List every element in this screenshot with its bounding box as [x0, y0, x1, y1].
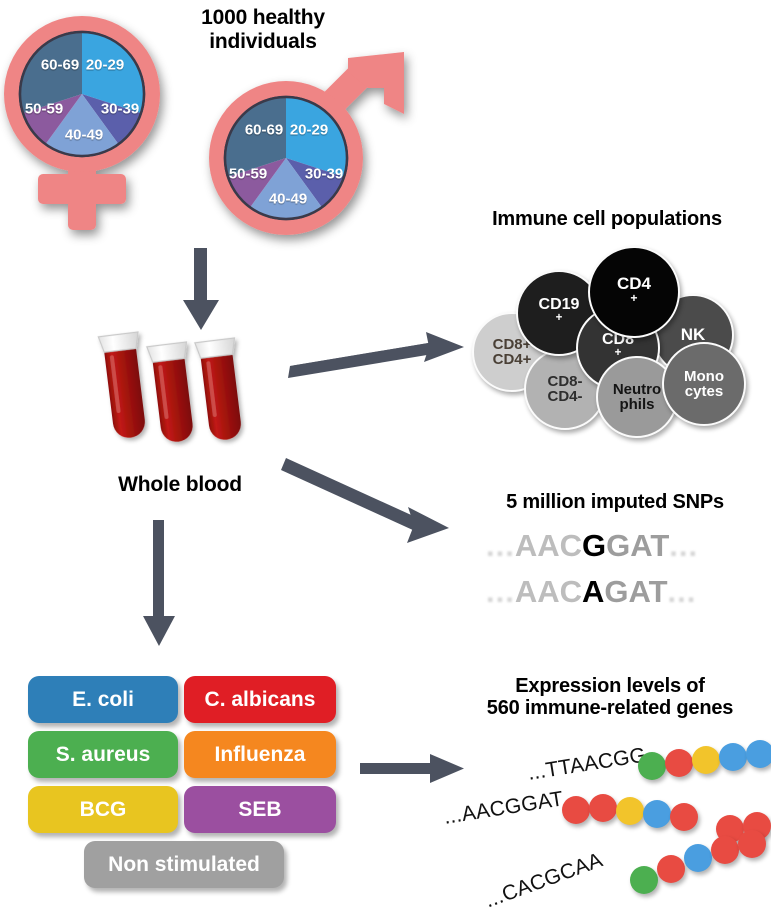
blood-tube: [195, 338, 247, 442]
expression-strand-3-sequence: ...CACGCAA: [482, 849, 606, 913]
blood-tubes: [95, 330, 270, 455]
arrow-blood-to-stimulation: [138, 520, 180, 648]
stimulation-pill-s-aureus-label: S. aureus: [56, 743, 151, 767]
expression-title-line2: 560 immune-related genes: [452, 697, 768, 719]
expression-bead: [616, 797, 644, 825]
stimulation-pill-e-coli-label: E. coli: [72, 688, 134, 712]
stimulation-pill-seb-label: SEB: [238, 798, 281, 822]
stimulation-pill-non-stimulated-label: Non stimulated: [108, 853, 260, 877]
snp-row1-right: GAT: [606, 528, 669, 563]
immune-cell-cd8p-cd4p-line2: CD4+: [493, 352, 532, 367]
expression-bead: [711, 836, 739, 864]
immune-cell-cd8n-cd4n-line1: CD8-: [547, 374, 582, 389]
stimulation-panel: E. coli C. albicans S. aureus Influenza …: [28, 676, 358, 896]
expression-bead: [657, 855, 685, 883]
stimulation-pill-c-albicans[interactable]: C. albicans: [184, 676, 336, 723]
blood-tube: [147, 342, 199, 444]
snp-row1-suffix-dots: ...: [669, 528, 698, 563]
expression-title: Expression levels of 560 immune-related …: [452, 675, 768, 720]
expression-title-line1: Expression levels of: [452, 675, 768, 697]
expression-strand-2: ...AACGGAT: [458, 784, 771, 844]
stimulation-pill-bcg-label: BCG: [80, 798, 127, 822]
snp-sequence-row-1: ...AACGGAT...: [486, 528, 698, 564]
figure-canvas: 1000 healthy individuals: [0, 0, 771, 922]
expression-bead: [684, 844, 712, 872]
expression-bead: [562, 796, 590, 824]
immune-cell-populations-title: Immune cell populations: [452, 208, 762, 230]
expression-strand-3: ...CACGCAA: [458, 836, 771, 906]
snp-sequence-row-2: ...AACAGAT...: [486, 574, 696, 610]
immune-cell-cd8n-cd4n-line2: CD4-: [547, 389, 582, 404]
snp-row2-variant: A: [582, 574, 604, 609]
whole-blood-label: Whole blood: [80, 473, 280, 497]
expression-bead: [589, 794, 617, 822]
expression-bead: [670, 803, 698, 831]
snp-row1-left: AAC: [515, 528, 582, 563]
stimulation-pill-c-albicans-label: C. albicans: [205, 688, 316, 712]
expression-bead: [638, 752, 666, 780]
snp-row1-variant: G: [582, 528, 606, 563]
immune-cell-cd4-label: CD4+: [617, 275, 651, 310]
stimulation-pill-seb[interactable]: SEB: [184, 786, 336, 833]
snp-row2-prefix-dots: ...: [486, 574, 515, 609]
arrow-blood-to-immune: [288, 330, 468, 380]
stimulation-pill-influenza[interactable]: Influenza: [184, 731, 336, 778]
immune-cell-cd19-label: CD19+: [539, 297, 580, 330]
blood-tube: [98, 332, 150, 440]
arrow-cohort-to-blood: [180, 248, 222, 332]
expression-bead: [719, 743, 747, 771]
female-symbol: 20-29 30-39 40-49 50-59 60-69: [2, 8, 182, 238]
stimulation-pill-s-aureus[interactable]: S. aureus: [28, 731, 178, 778]
snp-row2-suffix-dots: ...: [668, 574, 697, 609]
immune-cell-neutrophils-line2: phils: [613, 397, 661, 412]
expression-bead: [665, 749, 693, 777]
snp-row2-left: AAC: [515, 574, 582, 609]
immune-cell-cd4: CD4+: [588, 246, 680, 338]
immune-cell-cluster: CD8+ CD4+ CD8- CD4- CD19+ CD4+ NK: [472, 240, 762, 415]
expression-bead: [738, 830, 766, 858]
expression-bead: [746, 740, 771, 768]
immune-cell-monocytes-line2: cytes: [684, 384, 724, 399]
stimulation-pill-non-stimulated[interactable]: Non stimulated: [84, 841, 284, 888]
gene-expression-strands: ...TTAACGG ...AACGGAT ...CACGCAA: [458, 740, 771, 915]
male-symbol: 20-29 30-39 40-49 50-59 60-69: [198, 40, 413, 255]
stimulation-pill-e-coli[interactable]: E. coli: [28, 676, 178, 723]
immune-cell-neutrophils-line1: Neutro: [613, 382, 661, 397]
cohort-title-line1: 1000 healthy: [168, 6, 358, 30]
expression-strand-1-sequence: ...TTAACGG: [526, 743, 648, 784]
stimulation-pill-bcg[interactable]: BCG: [28, 786, 178, 833]
snp-sequences: ...AACGGAT... ...AACAGAT...: [486, 528, 746, 618]
expression-bead: [692, 746, 720, 774]
snp-row2-right: GAT: [604, 574, 667, 609]
snp-row1-prefix-dots: ...: [486, 528, 515, 563]
expression-bead: [630, 866, 658, 894]
arrow-blood-to-snp: [286, 455, 456, 550]
immune-cell-monocytes: Mono cytes: [662, 342, 746, 426]
expression-strand-2-sequence: ...AACGGAT: [442, 787, 565, 829]
arrow-stimulation-to-expression: [360, 752, 466, 786]
stimulation-pill-influenza-label: Influenza: [214, 743, 305, 767]
snp-title: 5 million imputed SNPs: [470, 491, 760, 513]
expression-bead: [643, 800, 671, 828]
immune-cell-monocytes-line1: Mono: [684, 369, 724, 384]
